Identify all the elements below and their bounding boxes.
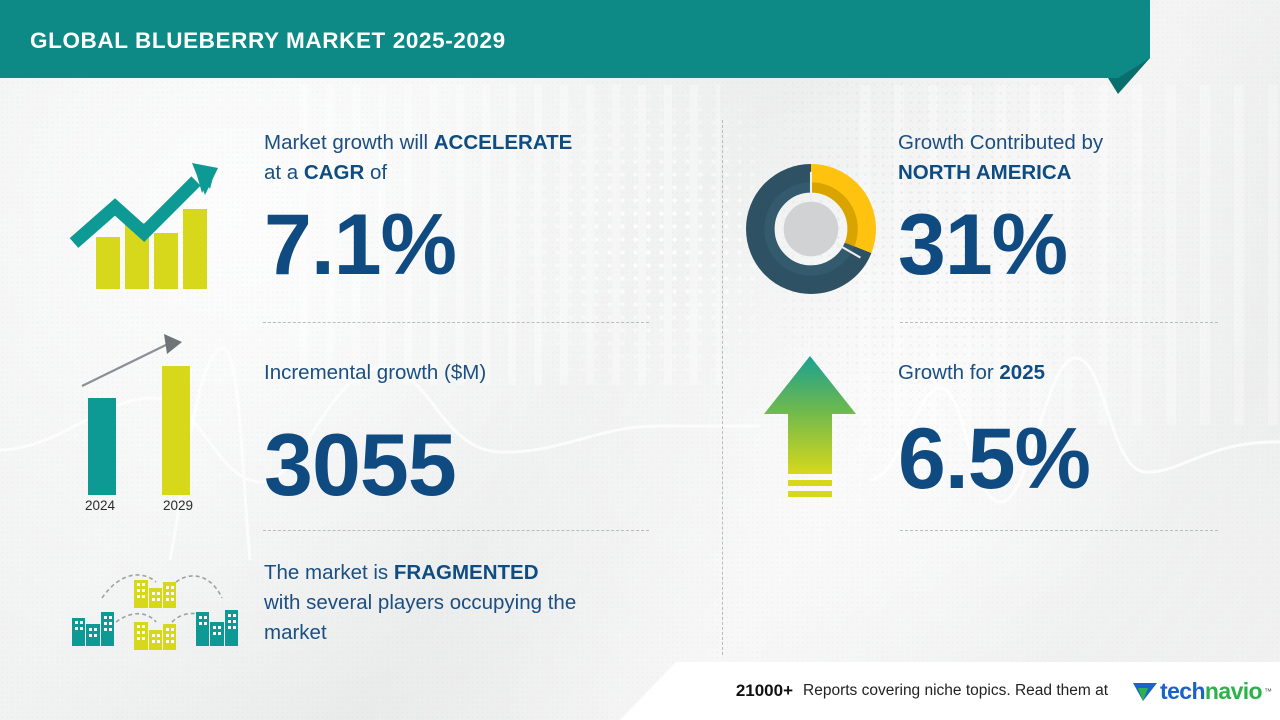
logo-text-navio: navio <box>1205 678 1262 704</box>
logo-trademark: ™ <box>1264 687 1272 696</box>
cagr-line2-plain-b: of <box>364 161 387 184</box>
growth-chart-icon <box>68 145 228 295</box>
donut-chart-icon <box>746 164 876 294</box>
up-arrow-icon <box>760 352 860 507</box>
logo-text-tech: tech <box>1160 678 1205 704</box>
year-growth-label-bold: 2025 <box>999 361 1045 384</box>
fragmentation-line1-bold: FRAGMENTED <box>394 561 539 584</box>
cagr-value: 7.1% <box>264 196 456 295</box>
footer-tagline: Reports covering niche topics. Read them… <box>803 682 1108 700</box>
cagr-line1-bold: ACCELERATE <box>434 131 573 154</box>
region-line2-bold: NORTH AMERICA <box>898 161 1071 184</box>
divider-right-2 <box>900 530 1218 531</box>
two-bar-chart-icon <box>72 330 222 495</box>
technavio-logo[interactable]: technavio ™ <box>1132 678 1272 705</box>
region-value: 31% <box>898 196 1067 295</box>
divider-left-1 <box>263 322 649 323</box>
cagr-line1-plain: Market growth will <box>264 131 434 154</box>
footer: 21000+ Reports covering niche topics. Re… <box>0 662 1280 720</box>
year-growth-label: Growth for 2025 <box>898 358 1045 388</box>
cagr-line2-bold: CAGR <box>304 161 364 184</box>
fragmentation-line1-plain: The market is <box>264 561 394 584</box>
region-line1: Growth Contributed by <box>898 131 1103 154</box>
divider-right-1 <box>900 322 1218 323</box>
year-growth-label-plain: Growth for <box>898 361 999 384</box>
vertical-divider <box>722 120 723 655</box>
cagr-line2-plain-a: at a <box>264 161 304 184</box>
technavio-wordmark: technavio <box>1160 678 1262 705</box>
cagr-statement: Market growth will ACCELERATEat a CAGR o… <box>264 128 684 188</box>
incremental-growth-label: Incremental growth ($M) <box>264 358 486 388</box>
infographic-canvas: GLOBAL BLUEBERRY MARKET 2025-2029 Market… <box>0 0 1280 720</box>
fragmentation-statement: The market is FRAGMENTEDwith several pla… <box>264 558 694 648</box>
bar-label-2024: 2024 <box>85 498 115 513</box>
fragmentation-line2: with several players occupying the <box>264 591 576 614</box>
city-cluster-icon <box>72 560 242 660</box>
incremental-growth-value: 3055 <box>264 414 456 516</box>
region-statement: Growth Contributed byNORTH AMERICA <box>898 128 1228 188</box>
fragmentation-line3: market <box>264 621 327 644</box>
page-title: GLOBAL BLUEBERRY MARKET 2025-2029 <box>30 28 506 54</box>
technavio-mark-icon <box>1132 679 1158 703</box>
year-growth-value: 6.5% <box>898 410 1090 509</box>
bar-label-2029: 2029 <box>163 498 193 513</box>
divider-left-2 <box>263 530 649 531</box>
footer-report-count: 21000+ <box>736 681 793 701</box>
